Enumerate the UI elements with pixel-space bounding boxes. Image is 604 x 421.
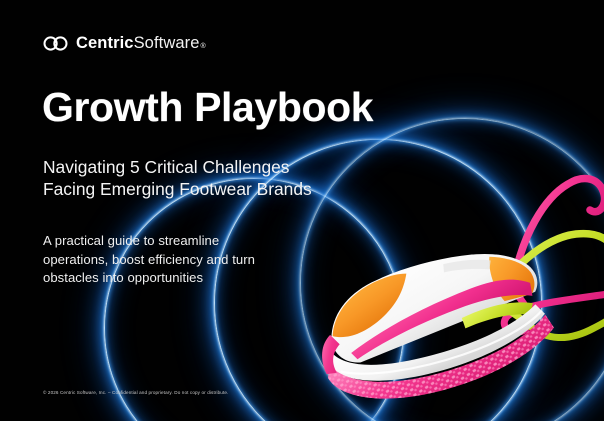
- logo-word-centric: Centric: [76, 35, 134, 52]
- logo-wordmark: Centric Software ®: [76, 35, 206, 52]
- description-line-3: obstacles into opportunities: [43, 269, 255, 288]
- logo-word-software: Software: [134, 35, 200, 52]
- description-line-1: A practical guide to streamline: [43, 232, 255, 251]
- trademark-mark: ®: [200, 43, 205, 50]
- subtitle-line-2: Facing Emerging Footwear Brands: [43, 179, 312, 201]
- page-title: Growth Playbook: [42, 86, 373, 129]
- legal-footer: © 2026 Centric Software, Inc. – Confiden…: [43, 390, 228, 395]
- cover-slide: Centric Software ® Growth Playbook Navig…: [0, 0, 604, 421]
- description-line-2: operations, boost efficiency and turn: [43, 251, 255, 270]
- running-sneaker-illustration: [318, 176, 604, 421]
- description: A practical guide to streamline operatio…: [43, 232, 255, 288]
- infinity-double-circle-icon: [43, 36, 69, 51]
- subtitle: Navigating 5 Critical Challenges Facing …: [43, 157, 312, 201]
- centric-software-logo[interactable]: Centric Software ®: [43, 33, 206, 53]
- subtitle-line-1: Navigating 5 Critical Challenges: [43, 157, 312, 179]
